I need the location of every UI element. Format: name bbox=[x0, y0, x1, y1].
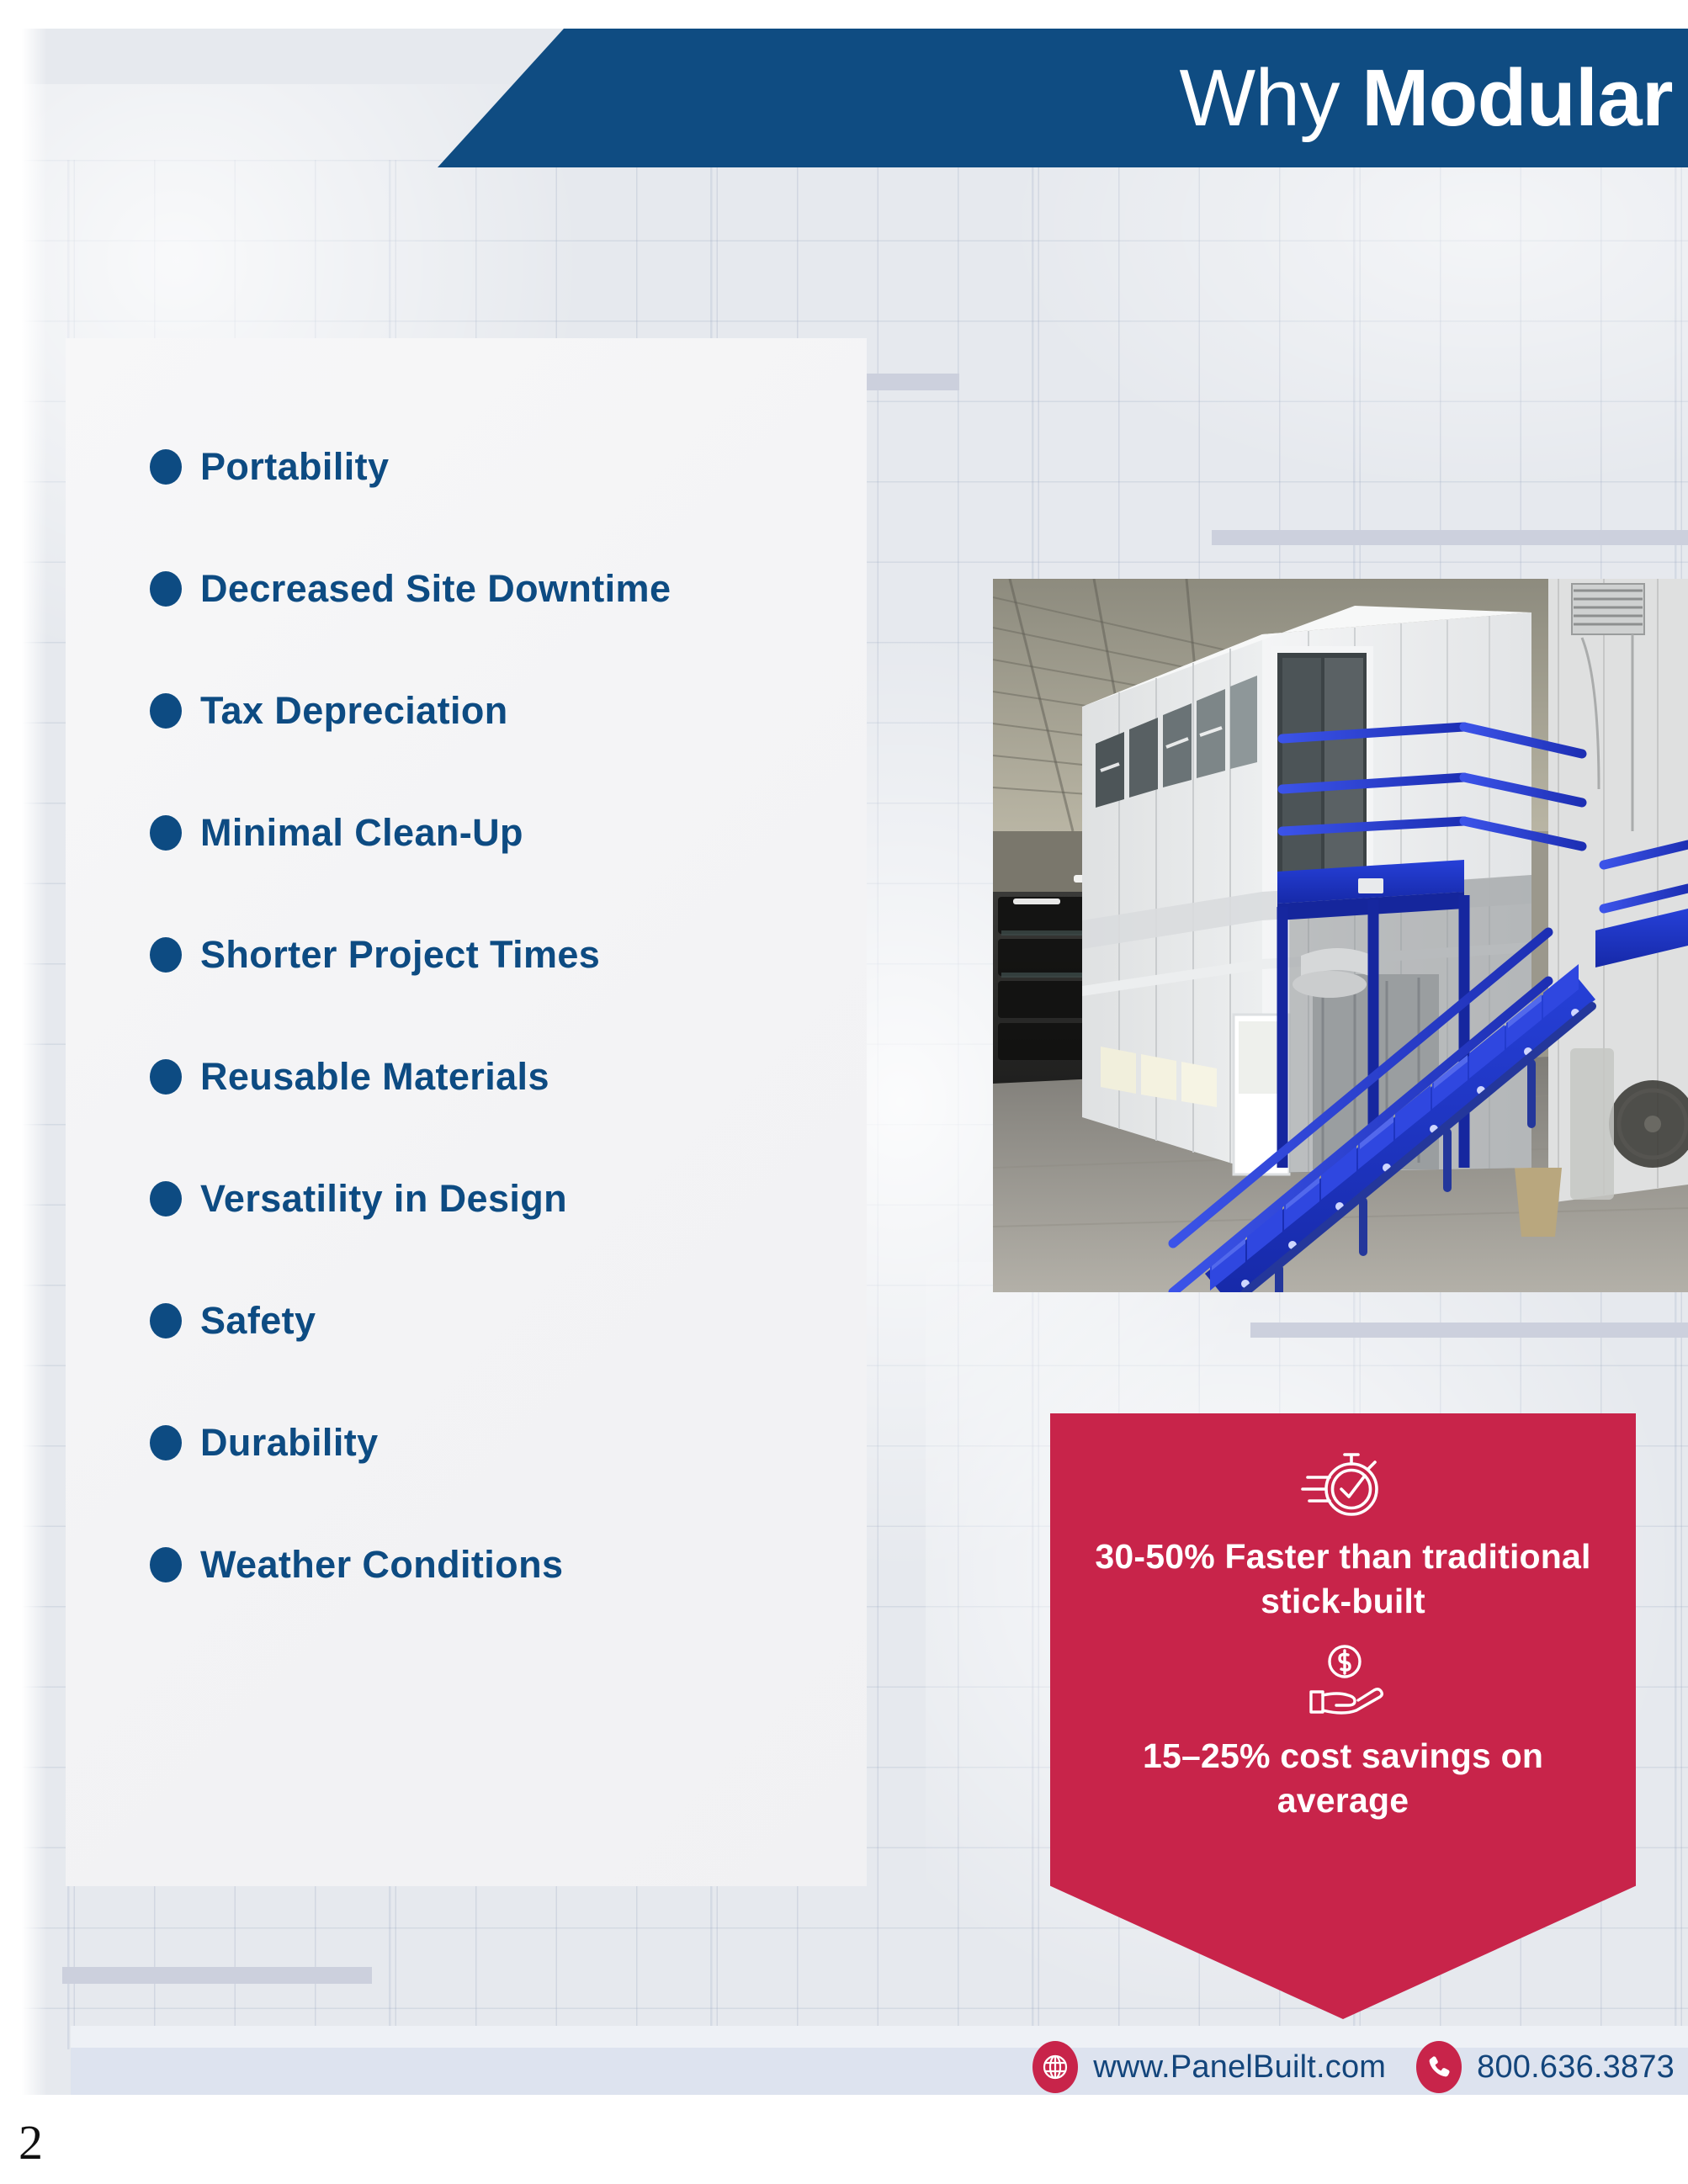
list-item: Portability bbox=[150, 406, 850, 527]
phone-contact[interactable]: 800.636.3873 bbox=[1416, 2041, 1675, 2093]
page-root: Why Modular Portability Decreased Site D… bbox=[0, 0, 1688, 2184]
benefit-label: Decreased Site Downtime bbox=[200, 567, 671, 611]
header-banner: Why Modular bbox=[438, 29, 1688, 167]
bullet-icon bbox=[150, 1303, 182, 1338]
benefit-label: Durability bbox=[200, 1421, 379, 1465]
page-title-bold: Modular bbox=[1362, 53, 1673, 143]
footer-contact: www.PanelBuilt.com 800.636.3873 bbox=[1032, 2041, 1675, 2093]
speed-stat-text: 30-50% Faster than traditional stick-bui… bbox=[1092, 1535, 1594, 1625]
hand-holding-dollar-icon bbox=[1092, 1643, 1594, 1720]
page-number: 2 bbox=[19, 2114, 43, 2171]
decorative-bar-right-top bbox=[1212, 530, 1688, 545]
bullet-icon bbox=[150, 693, 182, 729]
benefits-card: Portability Decreased Site Downtime Tax … bbox=[66, 338, 867, 1886]
list-item: Durability bbox=[150, 1381, 850, 1503]
benefit-label: Minimal Clean-Up bbox=[200, 811, 523, 855]
website-text: www.PanelBuilt.com bbox=[1093, 2049, 1386, 2086]
phone-text: 800.636.3873 bbox=[1477, 2049, 1675, 2086]
benefit-label: Portability bbox=[200, 445, 389, 489]
benefit-label: Safety bbox=[200, 1299, 316, 1343]
bullet-icon bbox=[150, 937, 182, 973]
globe-icon bbox=[1032, 2041, 1078, 2093]
decorative-bar-right-bottom bbox=[1250, 1323, 1688, 1338]
phone-icon bbox=[1416, 2041, 1462, 2093]
bullet-icon bbox=[150, 449, 182, 485]
benefit-label: Reusable Materials bbox=[200, 1055, 549, 1099]
benefit-label: Weather Conditions bbox=[200, 1543, 563, 1587]
bullet-icon bbox=[150, 1059, 182, 1095]
page-margin-top bbox=[0, 0, 1688, 29]
stopwatch-check-icon bbox=[1092, 1445, 1594, 1523]
bullet-icon bbox=[150, 815, 182, 851]
modular-office-photo bbox=[993, 579, 1688, 1292]
page-title: Why Modular bbox=[1180, 58, 1673, 139]
list-item: Tax Depreciation bbox=[150, 649, 850, 771]
bullet-icon bbox=[150, 1547, 182, 1582]
list-item: Minimal Clean-Up bbox=[150, 771, 850, 893]
benefit-label: Versatility in Design bbox=[200, 1177, 567, 1221]
benefit-label: Shorter Project Times bbox=[200, 933, 600, 977]
list-item: Weather Conditions bbox=[150, 1503, 850, 1625]
benefits-list: Portability Decreased Site Downtime Tax … bbox=[150, 406, 850, 1625]
website-contact[interactable]: www.PanelBuilt.com bbox=[1032, 2041, 1386, 2093]
bullet-icon bbox=[150, 1181, 182, 1217]
page-margin-left bbox=[0, 0, 47, 2184]
list-item: Safety bbox=[150, 1259, 850, 1381]
decorative-bar-bottom bbox=[62, 1967, 372, 1984]
bullet-icon bbox=[150, 1425, 182, 1460]
list-item: Shorter Project Times bbox=[150, 893, 850, 1015]
modular-office-illustration bbox=[993, 579, 1688, 1292]
page-margin-bottom bbox=[0, 2095, 1688, 2184]
list-item: Decreased Site Downtime bbox=[150, 527, 850, 649]
benefit-label: Tax Depreciation bbox=[200, 689, 508, 733]
list-item: Versatility in Design bbox=[150, 1137, 850, 1259]
savings-stat-text: 15–25% cost savings on average bbox=[1092, 1734, 1594, 1824]
page-title-light: Why bbox=[1180, 53, 1362, 143]
bullet-icon bbox=[150, 571, 182, 607]
list-item: Reusable Materials bbox=[150, 1015, 850, 1137]
